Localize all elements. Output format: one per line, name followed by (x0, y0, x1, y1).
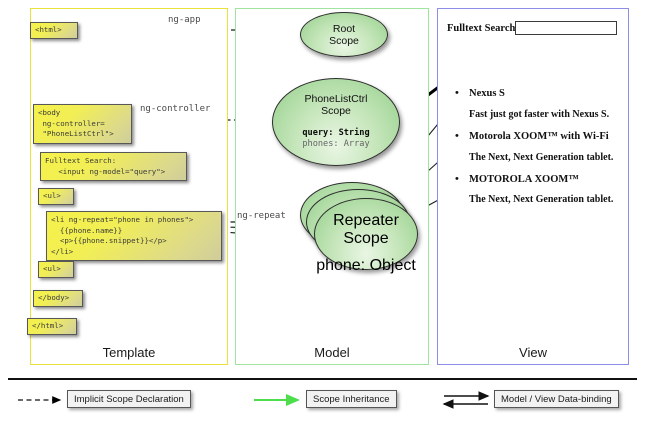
scope-root[interactable]: Root Scope (300, 12, 388, 57)
view-content: Fulltext Search: Nexus S Fast just got f… (437, 8, 629, 365)
diagram-canvas: Template <html> <body ng-controller= "Ph… (0, 0, 645, 425)
code-box-body-open[interactable]: <body ng-controller= "PhoneListCtrl"> (33, 104, 132, 144)
phone-name: MOTOROLA XOOM™ (451, 172, 623, 188)
scope-repeater-title: Repeater Scope (315, 212, 417, 248)
code-box-li-repeat[interactable]: <li ng-repeat="phone in phones"> {{phone… (46, 211, 222, 261)
scope-prop-phones: phones: Array (273, 139, 399, 150)
fulltext-search-input[interactable] (515, 21, 617, 35)
phone-name: Motorola XOOM™ with Wi-Fi (451, 129, 623, 145)
list-item[interactable]: MOTOROLA XOOM™ The Next, Next Generation… (451, 172, 623, 208)
phone-name: Nexus S (451, 86, 623, 102)
panel-model-label: Model (236, 345, 428, 360)
panel-template-label: Template (31, 345, 227, 360)
fulltext-search-label: Fulltext Search: (447, 23, 519, 34)
code-box-ul-close[interactable]: <ul> (38, 261, 74, 278)
scope-repeater-stack[interactable]: Repeater Scope phone: Object (300, 182, 418, 274)
code-box-html-close[interactable]: </html> (27, 318, 77, 335)
label-ng-app: ng-app (168, 15, 201, 25)
legend-label-implicit-scope: Implicit Scope Declaration (67, 390, 191, 408)
code-box-ul-open[interactable]: <ul> (38, 188, 74, 205)
scope-repeater[interactable]: Repeater Scope phone: Object (314, 198, 418, 270)
list-item[interactable]: Nexus S Fast just got faster with Nexus … (451, 86, 623, 122)
scope-phonelistctrl[interactable]: PhoneListCtrl Scope query: String phones… (272, 78, 400, 166)
legend-divider (8, 378, 637, 380)
label-ng-controller: ng-controller (140, 104, 210, 114)
scope-root-title: Root Scope (301, 23, 387, 48)
scope-prop-query: query: String (273, 128, 399, 139)
phone-list: Nexus S Fast just got faster with Nexus … (451, 86, 623, 214)
legend-label-data-binding: Model / View Data-binding (494, 390, 619, 408)
list-item[interactable]: Motorola XOOM™ with Wi-Fi The Next, Next… (451, 129, 623, 165)
scope-phonelistctrl-title: PhoneListCtrl Scope (273, 93, 399, 118)
panel-template: Template (30, 8, 228, 365)
code-box-search-input[interactable]: Fulltext Search: <input ng-model="query"… (40, 152, 187, 181)
code-box-body-close[interactable]: </body> (33, 290, 83, 307)
phone-snippet: The Next, Next Generation tablet. (451, 150, 623, 165)
legend-label-scope-inheritance: Scope Inheritance (306, 390, 397, 408)
code-box-html-open[interactable]: <html> (30, 22, 78, 39)
phone-snippet: The Next, Next Generation tablet. (451, 192, 623, 207)
phone-snippet: Fast just got faster with Nexus S. (451, 107, 623, 122)
scope-prop-phone: phone: Object (315, 257, 417, 275)
label-ng-repeat: ng-repeat (237, 211, 286, 221)
legend-glyph-double (444, 396, 488, 404)
